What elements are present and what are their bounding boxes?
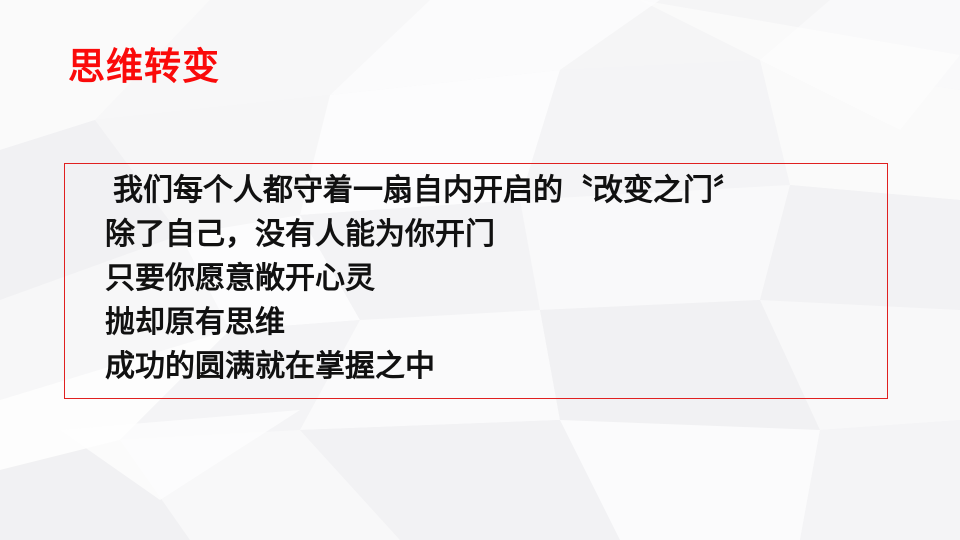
quote-line: 只要你愿意敞开心灵: [105, 257, 885, 301]
quote-line: 抛却原有思维: [105, 301, 885, 345]
page-title: 思维转变: [68, 48, 220, 87]
quote-line: 我们每个人都守着一扇自内开启的〝改变之门〞: [105, 169, 885, 213]
quote-line: 成功的圆满就在掌握之中: [105, 345, 885, 389]
quote-line: 除了自己，没有人能为你开门: [105, 213, 885, 257]
quote-line-list: 我们每个人都守着一扇自内开启的〝改变之门〞 除了自己，没有人能为你开门 只要你愿…: [105, 169, 885, 389]
presentation-slide: 思维转变 我们每个人都守着一扇自内开启的〝改变之门〞 除了自己，没有人能为你开门…: [0, 0, 960, 540]
quote-text-box: 我们每个人都守着一扇自内开启的〝改变之门〞 除了自己，没有人能为你开门 只要你愿…: [64, 163, 888, 399]
